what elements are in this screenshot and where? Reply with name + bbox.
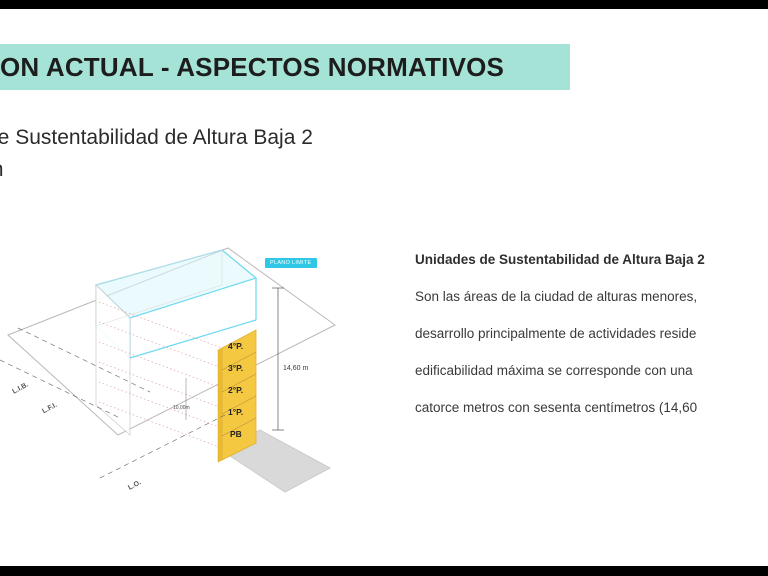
isometric-building-diagram — [0, 230, 400, 530]
description-heading: Unidades de Sustentabilidad de Altura Ba… — [415, 252, 768, 267]
letterbox-top-bar — [0, 0, 768, 9]
inner-dimension-label: 10,00m — [173, 405, 190, 411]
subtitle-line-1: de Sustentabilidad de Altura Baja 2 — [0, 126, 313, 150]
description-paragraph-1: Son las áreas de la ciudad de alturas me… — [415, 289, 768, 304]
plano-limite-badge: PLANO LIMITE — [265, 258, 317, 268]
subtitle-line-2: m — [0, 158, 4, 182]
letterbox-bottom-bar — [0, 566, 768, 576]
description-text-column: Unidades de Sustentabilidad de Altura Ba… — [415, 252, 768, 437]
title-banner: ON ACTUAL - ASPECTOS NORMATIVOS — [0, 44, 570, 90]
floor-label-4: 4°P. — [228, 341, 243, 351]
floor-label-1: 1°P. — [228, 407, 243, 417]
floor-label-2: 2°P. — [228, 385, 243, 395]
description-paragraph-3: edificabilidad máxima se corresponde con… — [415, 363, 768, 378]
height-dimension-label: 14,60 m — [283, 365, 308, 372]
floor-label-pb: PB — [230, 429, 242, 439]
floor-label-3: 3°P. — [228, 363, 243, 373]
description-paragraph-2: desarrollo principalmente de actividades… — [415, 326, 768, 341]
page-title: ON ACTUAL - ASPECTOS NORMATIVOS — [0, 52, 504, 83]
description-paragraph-4: catorce metros con sesenta centímetros (… — [415, 400, 768, 415]
diagram-svg — [0, 230, 400, 530]
